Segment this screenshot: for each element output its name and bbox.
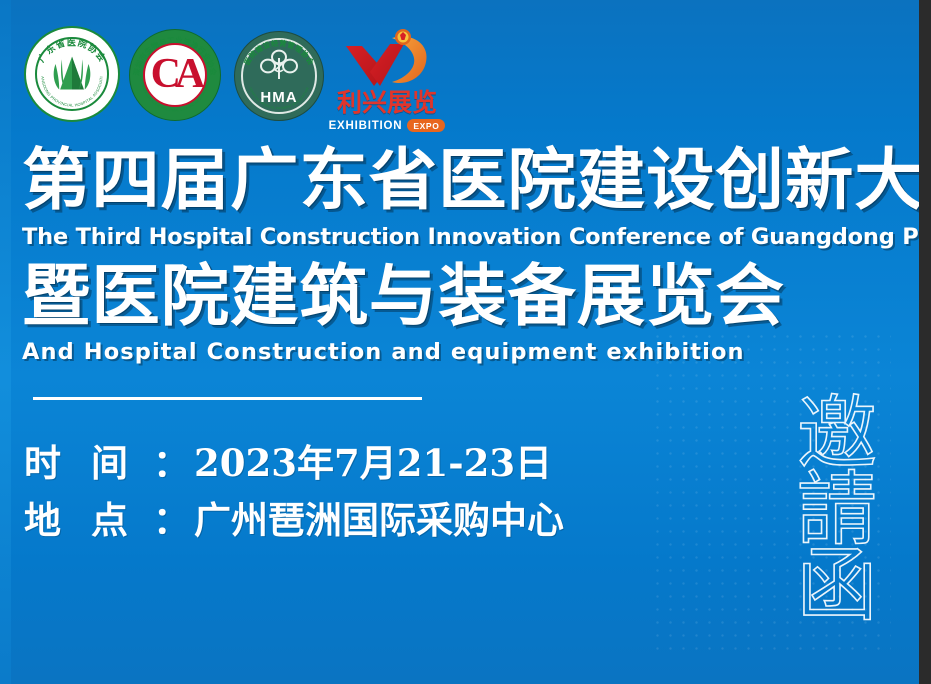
left-edge-stripe — [0, 0, 11, 684]
logo-lixing-exhibition: 利兴展览 EXHIBITION EXPO — [332, 28, 442, 132]
logo-2-badge: 深圳市生物与工业洁净行业协会 SHENZHEN BIOLOGICAL AND I… — [129, 29, 221, 121]
event-time-row: 时间 ： 2023年7月21-23日 — [24, 435, 564, 492]
lixing-english-row: EXHIBITION EXPO — [329, 119, 446, 132]
event-place-row: 地点 ： 广州琶洲国际采购中心 — [24, 492, 564, 549]
leaf-emblem-icon — [46, 48, 98, 100]
organizer-logo-strip: 广东省医院协会 GUANGDONG PROVINCIAL HOSPITAL AS… — [24, 26, 442, 132]
logo-hma-association: 医院建设经营管理协会 HOSPITAL MEDICAL PAYMENT ASSO… — [234, 31, 324, 121]
invitation-char-3: 函 — [789, 548, 885, 624]
headline-block: 第四届广东省医院建设创新大会 The Third Hospital Constr… — [22, 148, 912, 365]
event-info-block: 时间 ： 2023年7月21-23日 地点 ： 广州琶洲国际采购中心 — [24, 435, 564, 550]
lixing-mark-icon — [340, 28, 434, 90]
conference-title-chinese-line2: 暨医院建筑与装备展览会 — [22, 264, 930, 330]
lixing-expo-badge: EXPO — [407, 119, 445, 132]
logo-2-monogram: CA — [151, 53, 200, 95]
lixing-chinese-name: 利兴展览 — [337, 91, 437, 116]
invitation-char-2: 請 — [789, 472, 885, 548]
right-edge-border — [919, 0, 931, 684]
conference-title-english-line1: The Third Hospital Construction Innovati… — [22, 224, 912, 250]
logo-3-badge: 医院建设经营管理协会 HOSPITAL MEDICAL PAYMENT ASSO… — [234, 31, 324, 121]
invitation-vertical-text: 邀 請 函 — [789, 396, 885, 624]
event-time-colon: ： — [153, 435, 190, 492]
invitation-poster: 广东省医院协会 GUANGDONG PROVINCIAL HOSPITAL AS… — [0, 0, 931, 684]
logo-1-badge: 广东省医院协会 GUANGDONG PROVINCIAL HOSPITAL AS… — [24, 26, 120, 122]
logo-2-white-disc: CA — [143, 43, 207, 107]
event-time-value: 2023年7月21-23日 — [194, 435, 552, 492]
conference-title-english-line2: And Hospital Construction and equipment … — [22, 339, 912, 365]
invitation-char-1: 邀 — [789, 396, 885, 472]
event-place-value: 广州琶洲国际采购中心 — [194, 492, 564, 549]
logo-china-association: 深圳市生物与工业洁净行业协会 SHENZHEN BIOLOGICAL AND I… — [129, 29, 221, 121]
logo-3-abbreviation: HMA — [235, 89, 323, 106]
conference-title-chinese-line1: 第四届广东省医院建设创新大会 — [22, 148, 930, 214]
lixing-english-name: EXHIBITION — [329, 120, 403, 132]
event-place-colon: ： — [153, 492, 190, 549]
caduceus-icon — [235, 48, 323, 88]
section-divider — [33, 397, 422, 400]
logo-guangdong-hospital-association: 广东省医院协会 GUANGDONG PROVINCIAL HOSPITAL AS… — [24, 26, 120, 122]
